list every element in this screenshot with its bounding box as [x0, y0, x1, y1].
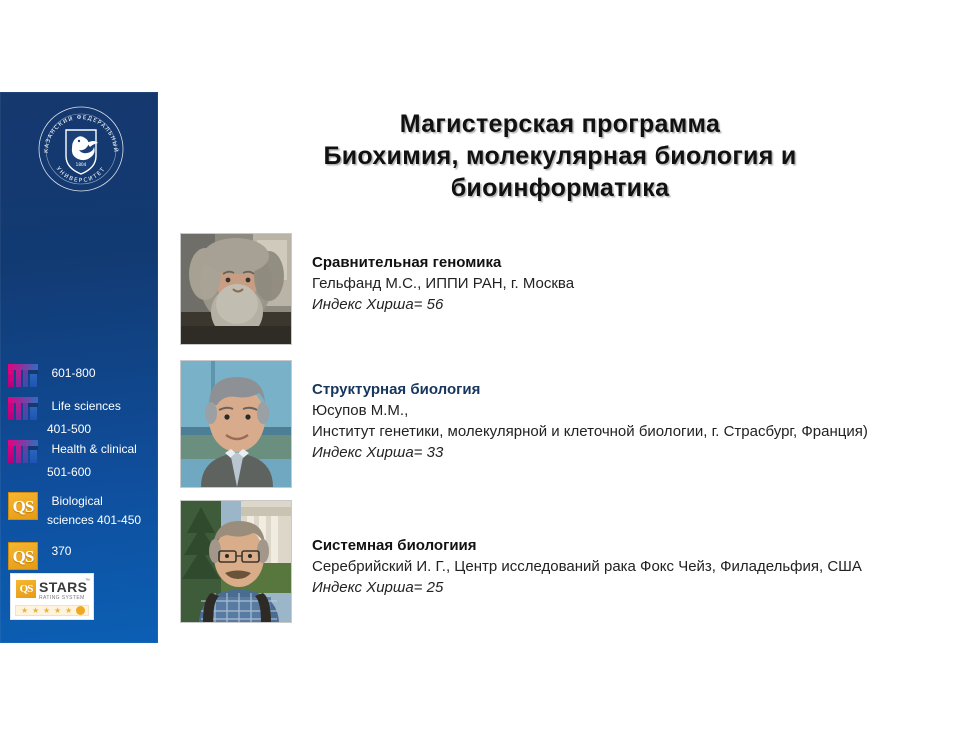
ranking-the-health-clinical: Health & clinical — [8, 440, 137, 463]
entry-heading: Сравнительная геномика — [312, 253, 872, 273]
page-title-line-3: биоинформатика — [250, 172, 870, 204]
star-icon: ★ — [32, 607, 39, 615]
ranking-the-health-clinical-value: 501-600 — [47, 463, 91, 482]
qs-stars-rating-logo: QS STARS ™ RATING SYSTEM ★ ★ ★ ★ ★ — [10, 573, 94, 620]
entry-text-block: Системная биологиия Серебрийский И. Г., … — [312, 536, 980, 598]
entry-text-block: Сравнительная геномика Гельфанд М.С., ИП… — [312, 253, 872, 315]
entry-person-name: Юсупов М.М., — [312, 400, 980, 421]
the-logo-icon — [8, 440, 38, 463]
ranking-value: 401-500 — [47, 420, 91, 439]
star-icon: ★ — [21, 607, 28, 615]
entry-affiliation: Серебрийский И. Г., Центр исследований р… — [312, 556, 972, 577]
entry-affiliation: Институт генетики, молекулярной и клеточ… — [312, 421, 972, 442]
photo-gelfand — [180, 233, 292, 345]
the-logo-icon — [8, 364, 38, 387]
qs-mark: QS — [16, 580, 36, 598]
entry-hirsch-index: Индекс Хирша= 56 — [312, 294, 872, 315]
entry-affiliation: Гельфанд М.С., ИППИ РАН, г. Москва — [312, 273, 872, 294]
qs-star-row: ★ ★ ★ ★ ★ — [15, 605, 89, 616]
page-title-line-2: Биохимия, молекулярная биология и — [250, 140, 870, 172]
ranking-label: Life sciences — [51, 397, 120, 416]
entry-heading: Структурная биология — [312, 380, 980, 400]
qs-logo-icon: QS — [8, 542, 38, 570]
star-icon: ★ — [43, 607, 50, 615]
photo-serebriiskii — [180, 500, 292, 623]
entry-text-block: Структурная биология Юсупов М.М., Инстит… — [312, 380, 980, 463]
page-title: Магистерская программа Биохимия, молекул… — [250, 108, 870, 204]
qs-logo-icon: QS — [8, 492, 38, 520]
page-title-line-1: Магистерская программа — [250, 108, 870, 140]
star-icon: ★ — [65, 607, 72, 615]
entry-hirsch-index: Индекс Хирша= 33 — [312, 442, 980, 463]
ranking-the-overall: 601-800 — [8, 364, 96, 387]
ranking-qs-biological-sciences-value: sciences 401-450 — [47, 511, 141, 530]
svg-text:1804: 1804 — [76, 162, 87, 167]
left-sidebar-panel: КАЗАНСКИЙ ФЕДЕРАЛЬНЫЙ УНИВЕРСИТЕТ 1804 6… — [0, 92, 158, 643]
kazan-federal-university-emblem: КАЗАНСКИЙ ФЕДЕРАЛЬНЫЙ УНИВЕРСИТЕТ 1804 — [38, 106, 124, 192]
star-icon: ★ — [54, 607, 61, 615]
the-logo-icon — [8, 397, 38, 420]
qs-stars-word: STARS — [39, 579, 87, 595]
ranking-value: 501-600 — [47, 463, 91, 482]
ranking-the-life-sciences-value: 401-500 — [47, 420, 91, 439]
ranking-value: 601-800 — [51, 364, 95, 383]
entry-heading: Системная биологиия — [312, 536, 980, 556]
ranking-qs-overall: QS 370 — [8, 542, 71, 570]
ranking-the-life-sciences: Life sciences — [8, 397, 121, 420]
ranking-value: sciences 401-450 — [47, 511, 141, 530]
ranking-value: 370 — [51, 542, 71, 561]
star-icon-highlight — [76, 606, 85, 615]
ranking-label: Biological — [51, 492, 102, 511]
entry-hirsch-index: Индекс Хирша= 25 — [312, 577, 980, 598]
ranking-label: Health & clinical — [51, 440, 136, 459]
trademark-icon: ™ — [85, 578, 90, 584]
qs-stars-subtitle: RATING SYSTEM — [39, 595, 85, 601]
photo-yusupov — [180, 360, 292, 488]
